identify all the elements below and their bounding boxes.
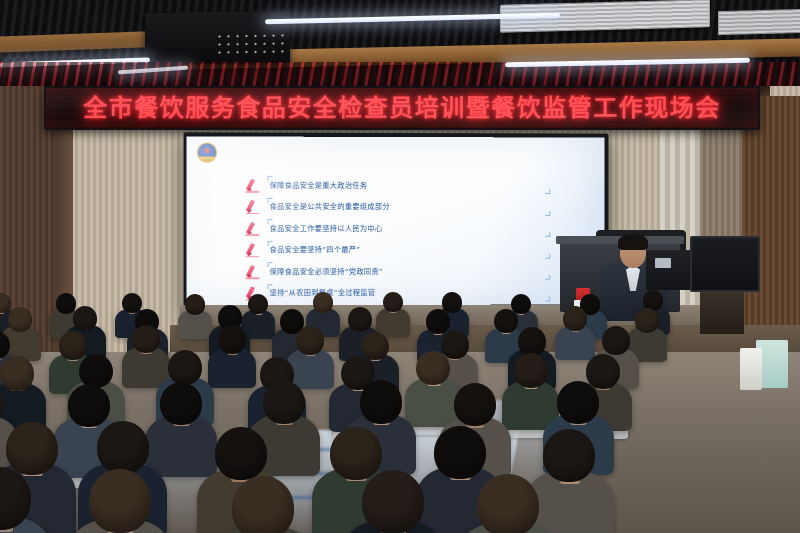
audience-member-head	[543, 429, 595, 482]
audience-member-head	[313, 292, 333, 313]
audience-member-head	[168, 350, 202, 385]
led-banner: 全市餐饮服务食品安全检查员培训暨餐饮监管工作现场会	[44, 86, 760, 130]
audience-member-head	[426, 309, 450, 334]
audience-member-head	[441, 330, 469, 359]
audience-member-head	[59, 331, 87, 360]
audience-member-head	[97, 421, 149, 474]
audience-member-head	[79, 354, 113, 389]
audience-member-head	[494, 309, 518, 334]
pen-icon	[245, 242, 261, 258]
audience-member-head	[442, 292, 462, 313]
pen-icon	[245, 178, 261, 194]
pen-icon	[245, 221, 261, 237]
audience-member-head	[348, 307, 372, 332]
audience-member-head	[68, 384, 110, 427]
audience-member-head	[56, 293, 76, 314]
audience-member-head	[361, 332, 389, 361]
speaker-hair	[618, 234, 648, 250]
audience-member-head	[454, 383, 496, 426]
audience-member-head	[477, 474, 539, 533]
audience-member-head	[122, 293, 142, 314]
audience-member-head	[218, 325, 246, 354]
audience-member-head	[563, 306, 587, 331]
market-regulation-emblem	[195, 142, 219, 168]
audience-member-head	[296, 326, 324, 355]
pen-icon	[245, 199, 261, 215]
slide-bullet-item: 保障食品安全必须坚持“党政同责”	[245, 261, 575, 283]
audience-member-head	[383, 292, 403, 313]
audience-member-head	[232, 476, 294, 533]
audience-member-head	[132, 325, 160, 354]
air-conditioner-vent-right	[718, 9, 800, 35]
equipment-rack	[700, 292, 744, 334]
audience-member-head	[8, 307, 32, 332]
monitor-screen-glow	[655, 258, 671, 268]
slide-bullet-text: 食品安全工作要坚持以人民为中心	[270, 224, 383, 234]
audience-member-head	[263, 381, 305, 424]
audience-member-head	[360, 380, 402, 423]
pen-icon	[245, 264, 261, 280]
slide-bullet-list: 保障食品安全是重大政治任务 食品安全是公共安全的重要组成部分 食品安全工作要坚持…	[245, 175, 575, 305]
audience-member-head	[6, 422, 58, 475]
slide-bullet-text: 保障食品安全是重大政治任务	[270, 181, 368, 191]
slide-bullet-item: 食品安全是公共安全的重要组成部分	[245, 196, 575, 218]
audience-member-head	[73, 306, 97, 331]
slide-bullet-item: 保障食品安全是重大政治任务	[245, 175, 575, 197]
audience-member-head	[89, 469, 151, 533]
slide-bullet-item: 食品安全工作要坚持以人民为中心	[245, 218, 575, 240]
slide-bullet-text: 食品安全是公共安全的重要组成部分	[270, 202, 390, 212]
audience-member-head	[635, 308, 659, 333]
monitor-display-secondary	[646, 250, 692, 290]
slide-bullet-item: 食品安全要坚持“四个最严”	[245, 239, 575, 261]
audience-member-head	[434, 426, 486, 479]
audience-member-head	[215, 427, 267, 480]
shopping-bag-white	[740, 348, 762, 390]
audience-member-head	[160, 382, 202, 425]
audience-member-head	[362, 470, 424, 533]
slide-bullet-text: 保障食品安全必须坚持“党政同责”	[270, 267, 383, 277]
audience-member-head	[330, 427, 382, 480]
audience-member-head	[0, 356, 34, 391]
audience-member-head	[557, 381, 599, 424]
audience-member-head	[185, 294, 205, 315]
audience-member-head	[514, 353, 548, 388]
slide-bullet-text: 食品安全要坚持“四个最严”	[270, 245, 361, 255]
monitor-display	[690, 236, 760, 292]
conference-hall-photo: 全市餐饮服务食品安全检查员培训暨餐饮监管工作现场会 保障食品安全是重大政治任务 …	[0, 0, 800, 533]
audience-member-head	[416, 351, 450, 386]
projection-screen: 保障食品安全是重大政治任务 食品安全是公共安全的重要组成部分 食品安全工作要坚持…	[187, 136, 605, 305]
audience-member-head	[518, 327, 546, 356]
audience-member-head	[586, 354, 620, 389]
projector-vent-dots	[215, 31, 285, 54]
led-banner-text: 全市餐饮服务食品安全检查员培训暨餐饮监管工作现场会	[83, 96, 721, 120]
audience-member-head	[602, 326, 630, 355]
